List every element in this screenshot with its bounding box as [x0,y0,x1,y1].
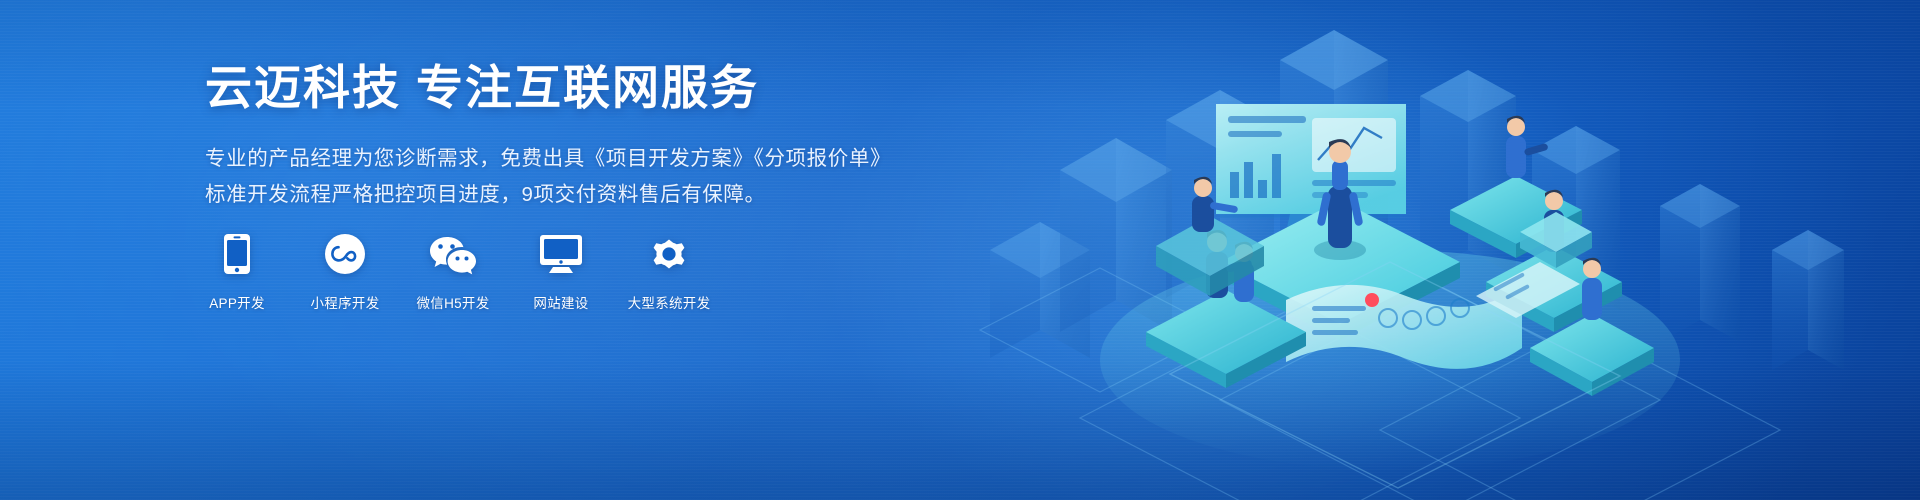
service-label: 微信H5开发 [416,292,489,312]
page-title: 云迈科技 专注互联网服务 [205,60,925,115]
service-item-miniprogram[interactable]: 小程序开发 [313,232,377,312]
service-label: APP开发 [209,292,265,312]
service-label: 小程序开发 [311,292,380,312]
service-label: 网站建设 [533,292,588,312]
mini-program-icon [324,232,366,276]
service-item-large-system[interactable]: 大型系统开发 [637,232,701,312]
hero-banner: 云迈科技 专注互联网服务 专业的产品经理为您诊断需求，免费出具《项目开发方案》《… [0,0,1920,500]
hero-subtitle: 专业的产品经理为您诊断需求，免费出具《项目开发方案》《分项报价单》 标准开发流程… [205,141,925,212]
service-label: 大型系统开发 [628,292,711,312]
gear-icon [648,232,690,276]
service-item-app[interactable]: APP开发 [205,232,269,312]
wechat-icon [428,232,478,276]
service-item-website[interactable]: 网站建设 [529,232,593,312]
subtitle-line-2: 标准开发流程严格把控项目进度，9项交付资料售后有保障。 [205,177,925,212]
service-item-wechat-h5[interactable]: 微信H5开发 [421,232,485,312]
mobile-phone-icon [223,232,251,276]
hero-content: 云迈科技 专注互联网服务 专业的产品经理为您诊断需求，免费出具《项目开发方案》《… [205,60,925,212]
hero-illustration [920,0,1920,500]
subtitle-line-1: 专业的产品经理为您诊断需求，免费出具《项目开发方案》《分项报价单》 [205,141,925,176]
service-list: APP开发 小程序开发 微信 [205,232,701,312]
monitor-icon [539,232,583,276]
